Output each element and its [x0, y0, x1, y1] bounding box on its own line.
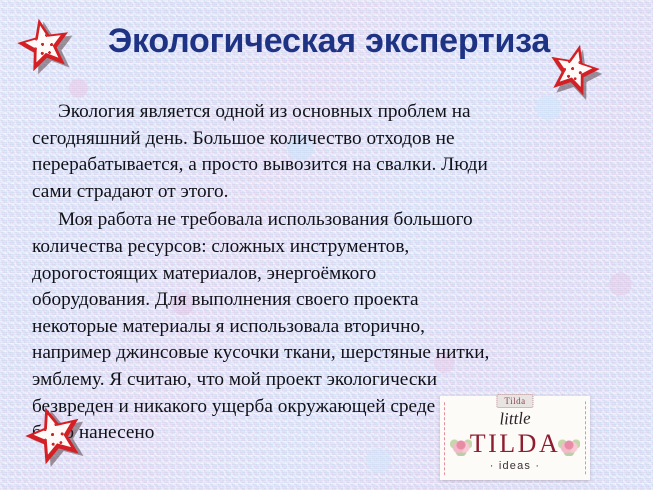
text-line: например джинсовые кусочки ткани, шерстя…	[32, 340, 607, 367]
text-line: Экология является одной из основных проб…	[32, 99, 607, 126]
paragraph-1: Экология является одной из основных проб…	[32, 99, 607, 205]
presentation-slide: Экологическая экспертиза Экология являет…	[0, 0, 653, 490]
logo-brand-name: TILDA	[440, 430, 590, 458]
star-icon	[544, 39, 605, 100]
text-line: перерабатывается, а просто вывозится на …	[32, 152, 607, 179]
logo-tab-label: Tilda	[496, 394, 533, 408]
text-line: дорогостоящих материалов, энергоёмкого	[32, 261, 607, 288]
logo-tagline: · ideas ·	[440, 460, 590, 472]
text-line: сами страдают от этого.	[32, 179, 607, 206]
text-line: количества ресурсов: сложных инструменто…	[32, 234, 607, 261]
text-line: Моя работа не требовала использования бо…	[32, 207, 607, 234]
page-title: Экологическая экспертиза	[108, 18, 568, 64]
text-line: некоторые материалы я использовала втори…	[32, 314, 607, 341]
star-icon	[13, 13, 75, 75]
tilda-logo-image: Tilda little TILDA · ideas ·	[440, 396, 590, 480]
text-line: оборудования. Для выполнения своего прое…	[32, 287, 607, 314]
text-line: сегодняшний день. Большое количество отх…	[32, 126, 607, 153]
text-line: эмблему. Я считаю, что мой проект эколог…	[32, 367, 607, 394]
